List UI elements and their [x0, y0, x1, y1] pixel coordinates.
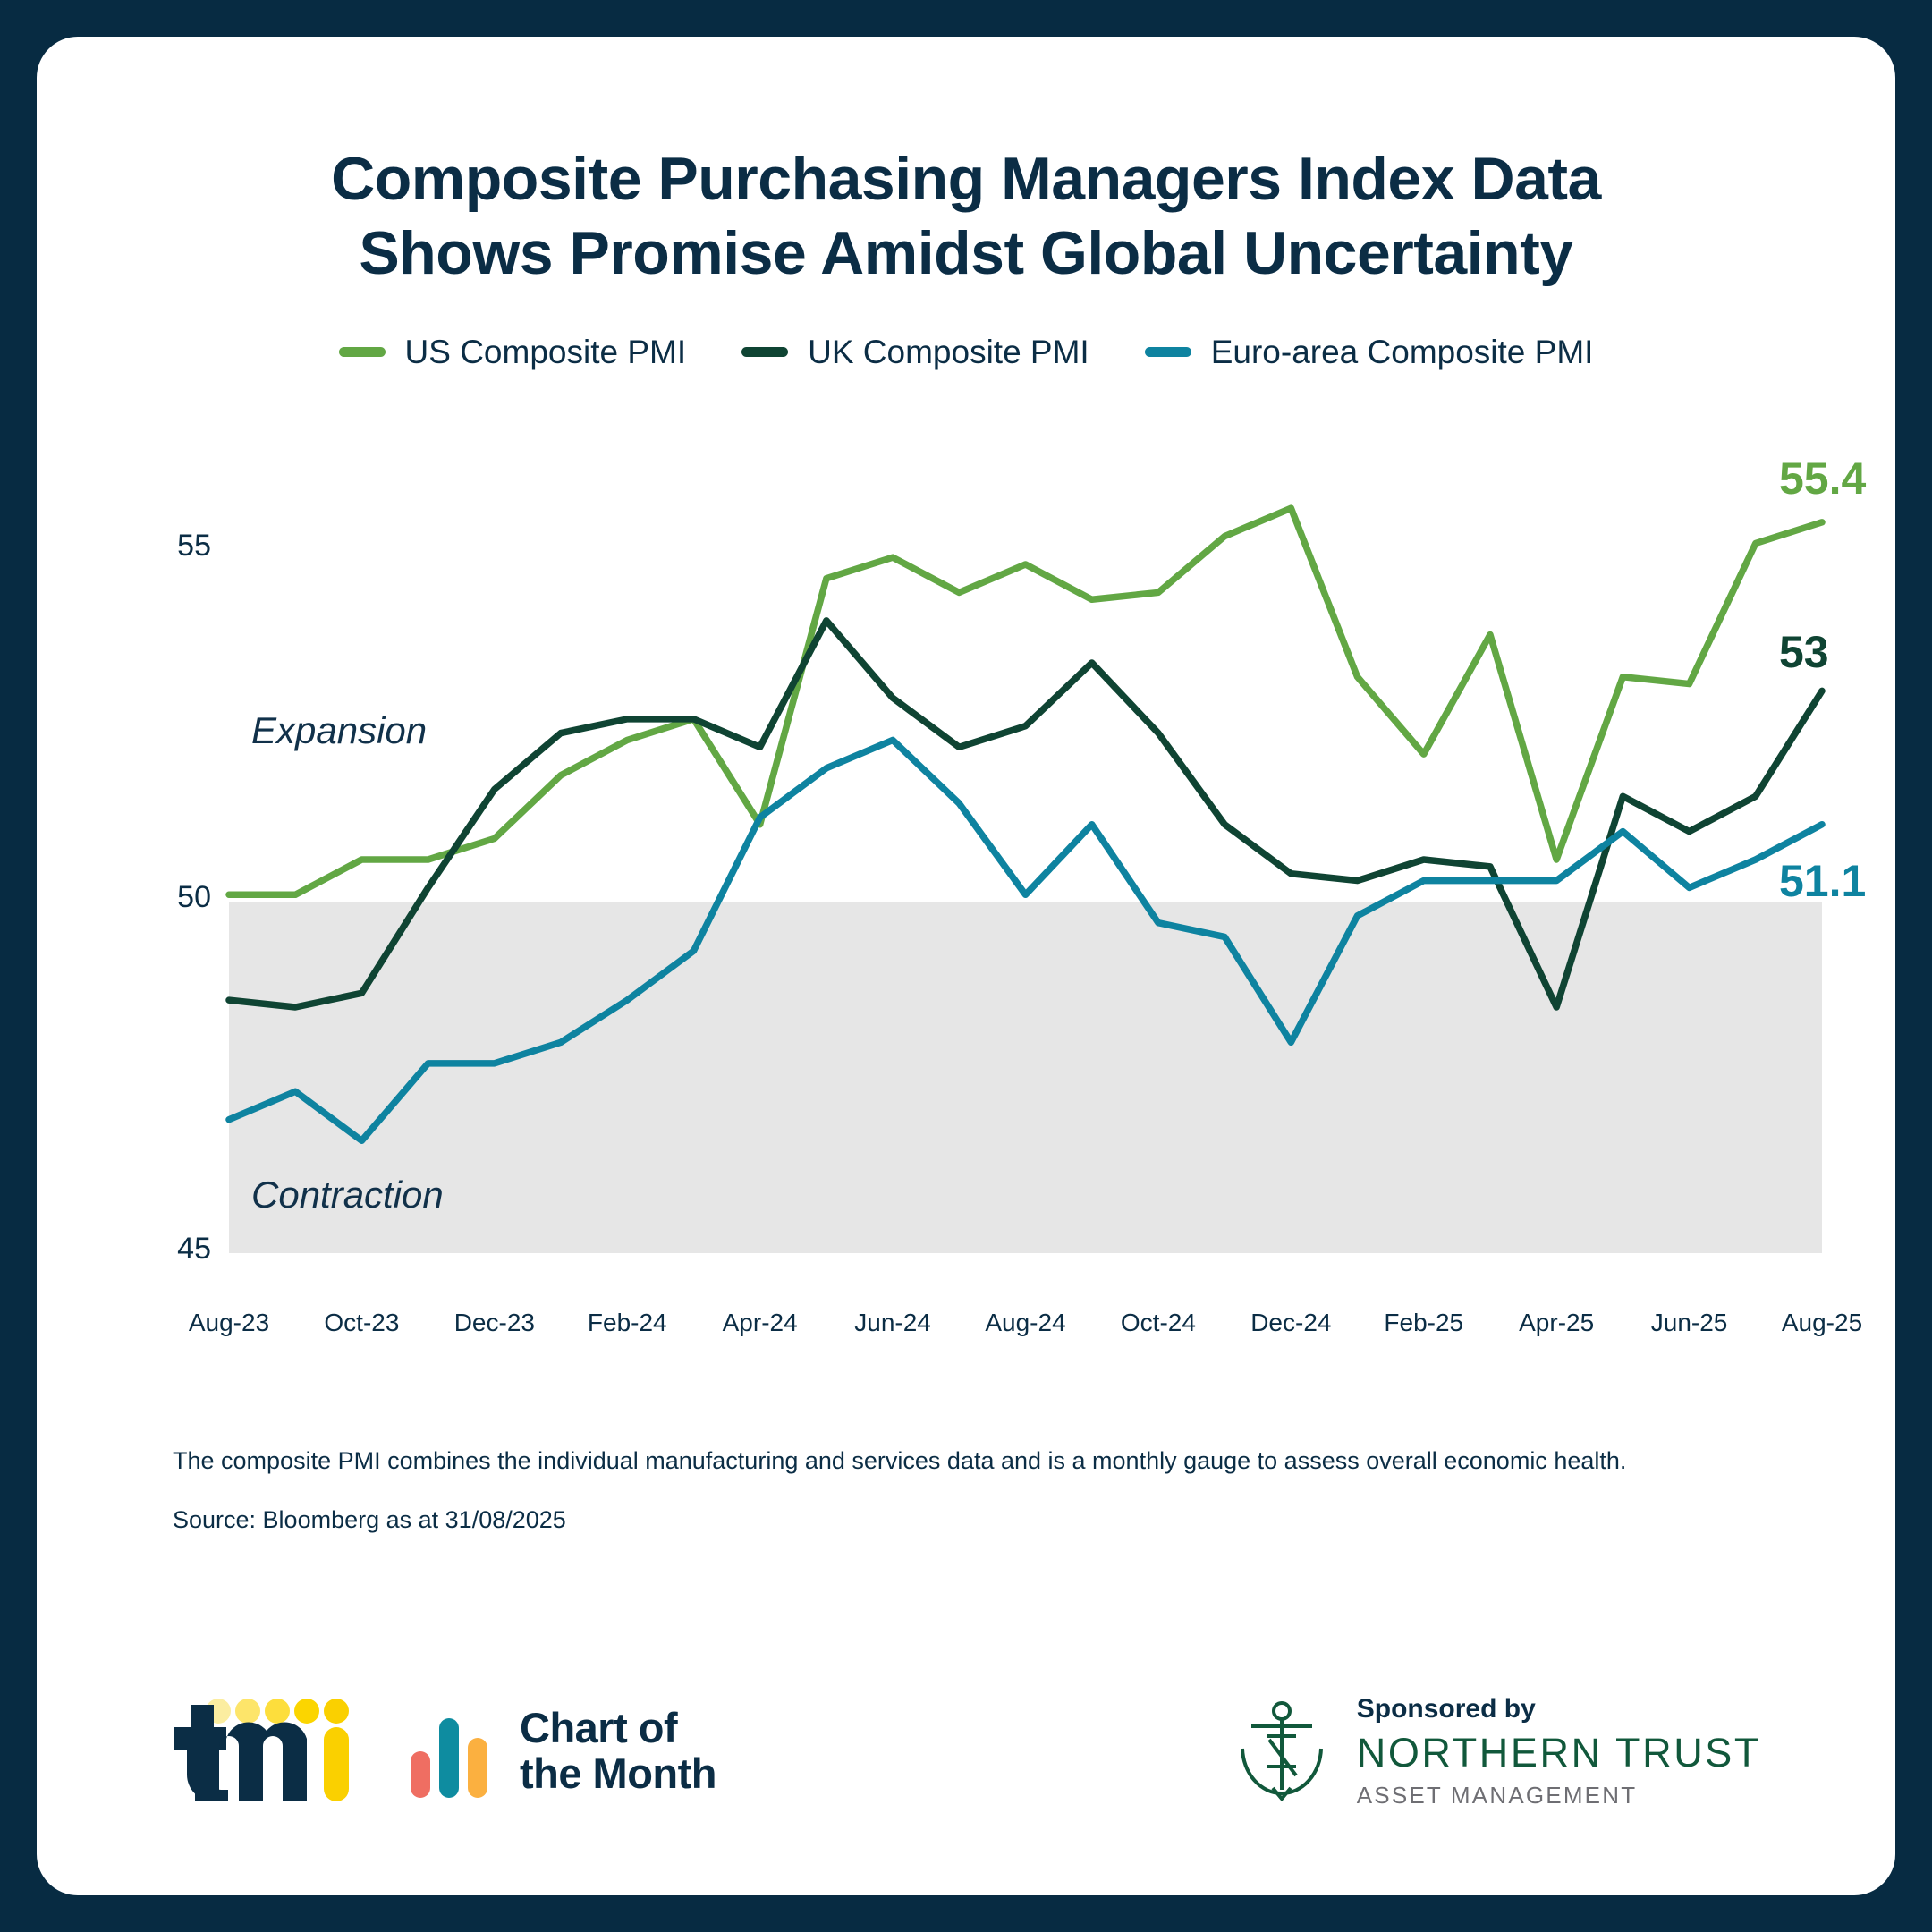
tmi-logo-icon — [171, 1698, 350, 1805]
chart-area: 455055Aug-23Oct-23Dec-23Feb-24Apr-24Jun-… — [37, 412, 1895, 1360]
end-value-label-0: 55.4 — [1779, 453, 1866, 504]
contraction-band — [229, 902, 1822, 1253]
y-axis-tick-45: 45 — [113, 1232, 211, 1267]
x-axis-tick-Dec-23: Dec-23 — [454, 1309, 535, 1337]
page-title-line-2: Shows Promise Amidst Global Uncertainty — [144, 216, 1788, 291]
footer-brand-right: Sponsored by NORTHERN TRUST ASSET MANAGE… — [1228, 1693, 1761, 1809]
x-axis-tick-Aug-23: Aug-23 — [189, 1309, 269, 1337]
chart-of-the-month-logo: Chart of the Month — [407, 1702, 716, 1801]
legend-swatch-euro-icon — [1145, 347, 1191, 357]
end-value-label-2: 51.1 — [1779, 855, 1866, 907]
expansion-label: Expansion — [251, 709, 427, 752]
cotm-line-1: Chart of — [520, 1706, 716, 1751]
bar-chart-icon — [407, 1702, 496, 1801]
legend-item-us[interactable]: US Composite PMI — [339, 334, 687, 371]
anchor-icon — [1228, 1693, 1335, 1809]
note-source: Source: Bloomberg as at 31/08/2025 — [173, 1505, 1895, 1534]
end-value-label-1: 53 — [1779, 626, 1829, 678]
northern-trust-text: Sponsored by NORTHERN TRUST ASSET MANAGE… — [1357, 1694, 1761, 1809]
chart-card: Composite Purchasing Managers Index Data… — [37, 37, 1895, 1895]
legend-item-uk[interactable]: UK Composite PMI — [741, 334, 1089, 371]
x-axis-tick-Jun-24: Jun-24 — [854, 1309, 931, 1337]
footer: Chart of the Month Sponsored by — [37, 1693, 1895, 1809]
legend-label-us: US Composite PMI — [405, 334, 687, 371]
page-title-line-1: Composite Purchasing Managers Index Data — [144, 142, 1788, 216]
x-axis-tick-Aug-24: Aug-24 — [985, 1309, 1065, 1337]
x-axis-tick-Dec-24: Dec-24 — [1250, 1309, 1331, 1337]
sponsor-subtitle: ASSET MANAGEMENT — [1357, 1782, 1761, 1809]
y-axis-tick-55: 55 — [113, 529, 211, 563]
x-axis-tick-Aug-25: Aug-25 — [1782, 1309, 1862, 1337]
page-title: Composite Purchasing Managers Index Data… — [37, 142, 1895, 291]
chart-legend: US Composite PMI UK Composite PMI Euro-a… — [37, 334, 1895, 371]
legend-label-uk: UK Composite PMI — [808, 334, 1089, 371]
x-axis-tick-Apr-25: Apr-25 — [1519, 1309, 1594, 1337]
y-axis-tick-50: 50 — [113, 880, 211, 915]
x-axis-tick-Feb-25: Feb-25 — [1384, 1309, 1463, 1337]
legend-label-euro: Euro-area Composite PMI — [1211, 334, 1594, 371]
legend-item-euro[interactable]: Euro-area Composite PMI — [1145, 334, 1594, 371]
pmi-line-chart — [37, 412, 1895, 1360]
cotm-line-2: the Month — [520, 1751, 716, 1797]
x-axis-tick-Jun-25: Jun-25 — [1651, 1309, 1728, 1337]
sponsor-name: NORTHERN TRUST — [1357, 1730, 1761, 1776]
x-axis-tick-Oct-23: Oct-23 — [324, 1309, 399, 1337]
x-axis-tick-Apr-24: Apr-24 — [723, 1309, 798, 1337]
series-line-0[interactable] — [229, 508, 1822, 894]
chart-of-the-month-text: Chart of the Month — [520, 1706, 716, 1797]
legend-swatch-us-icon — [339, 347, 386, 357]
x-axis-tick-Oct-24: Oct-24 — [1121, 1309, 1196, 1337]
x-axis-tick-Feb-24: Feb-24 — [588, 1309, 667, 1337]
contraction-label: Contraction — [251, 1174, 444, 1216]
sponsored-by-label: Sponsored by — [1357, 1694, 1761, 1724]
footer-brand-left: Chart of the Month — [171, 1698, 716, 1805]
legend-swatch-uk-icon — [741, 347, 788, 357]
chart-notes: The composite PMI combines the individua… — [37, 1446, 1895, 1535]
note-description: The composite PMI combines the individua… — [173, 1446, 1895, 1475]
